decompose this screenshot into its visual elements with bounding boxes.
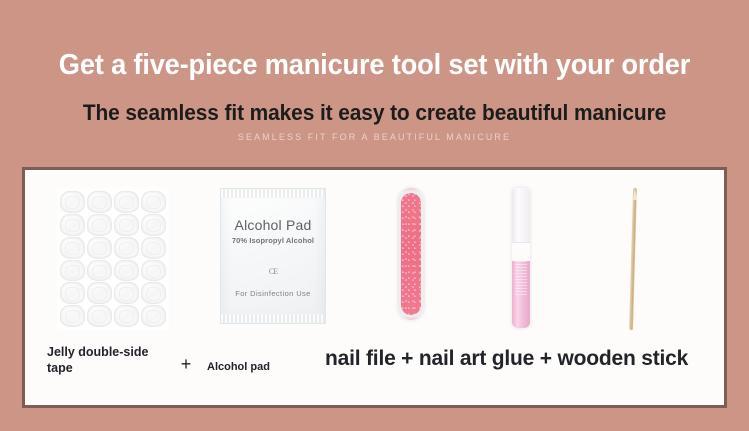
label-tool-group: nail file + nail art glue + wooden stick xyxy=(325,346,715,372)
tape-tab xyxy=(114,191,139,213)
tape-tab xyxy=(60,260,85,282)
tape-tab xyxy=(60,305,85,327)
tape-tab xyxy=(141,260,166,282)
tape-tab xyxy=(141,305,166,327)
tagline: SEAMLESS FIT FOR A BEAUTIFUL MANICURE xyxy=(0,131,749,143)
tape-tab xyxy=(60,214,85,236)
tape-tab xyxy=(141,214,166,236)
tape-tab xyxy=(114,282,139,304)
tape-tab xyxy=(87,305,112,327)
wooden-stick-body xyxy=(625,188,645,330)
ce-mark-icon: CE xyxy=(221,267,325,276)
tape-tab xyxy=(87,282,112,304)
product-panel: Alcohol Pad 70% Isopropyl Alcohol CE For… xyxy=(22,167,727,408)
product-image-alcohol-pad: Alcohol Pad 70% Isopropyl Alcohol CE For… xyxy=(203,188,343,336)
label-alcohol-pad: Alcohol pad xyxy=(207,360,327,374)
product-image-nail-file xyxy=(363,188,459,336)
tape-tab xyxy=(114,260,139,282)
headline-secondary: The seamless fit makes it easy to create… xyxy=(19,100,731,126)
page-title: Get a five-piece manicure tool set with … xyxy=(22,48,726,82)
tape-tab xyxy=(114,237,139,259)
tape-tab xyxy=(141,282,166,304)
glue-body xyxy=(512,261,530,328)
product-image-nail-art-glue xyxy=(473,188,569,336)
jelly-tape-sheet xyxy=(57,188,169,330)
plus-separator-icon: + xyxy=(173,354,199,375)
wooden-stick-tip xyxy=(633,188,637,200)
promo-banner: Get a five-piece manicure tool set with … xyxy=(0,0,749,431)
glue-tube xyxy=(512,188,530,328)
tape-tab xyxy=(87,260,112,282)
alcohol-pad-sachet: Alcohol Pad 70% Isopropyl Alcohol CE For… xyxy=(220,188,326,324)
tape-tab xyxy=(60,237,85,259)
tape-tab xyxy=(87,214,112,236)
product-image-row: Alcohol Pad 70% Isopropyl Alcohol CE For… xyxy=(25,170,724,340)
tape-tab xyxy=(114,214,139,236)
tape-tab xyxy=(87,237,112,259)
tape-tab xyxy=(60,191,85,213)
wooden-stick-shaft xyxy=(629,188,637,330)
tape-tab xyxy=(87,191,112,213)
product-image-jelly-tape xyxy=(39,188,187,336)
tape-tab xyxy=(60,282,85,304)
tape-tab xyxy=(141,191,166,213)
product-label-row: Jelly double-side tape + Alcohol pad nai… xyxy=(25,334,724,405)
nail-file-grit-surface xyxy=(401,193,421,315)
nail-file-body xyxy=(398,188,424,320)
tape-tab xyxy=(141,237,166,259)
alcohol-pad-usage-text: For Disinfection Use xyxy=(221,289,325,298)
alcohol-pad-subtitle: 70% Isopropyl Alcohol xyxy=(221,236,325,245)
alcohol-pad-title: Alcohol Pad xyxy=(221,217,325,233)
product-image-wooden-stick xyxy=(587,188,683,336)
tape-tab xyxy=(114,305,139,327)
glue-cap xyxy=(512,188,530,243)
label-jelly-tape: Jelly double-side tape xyxy=(47,344,167,376)
